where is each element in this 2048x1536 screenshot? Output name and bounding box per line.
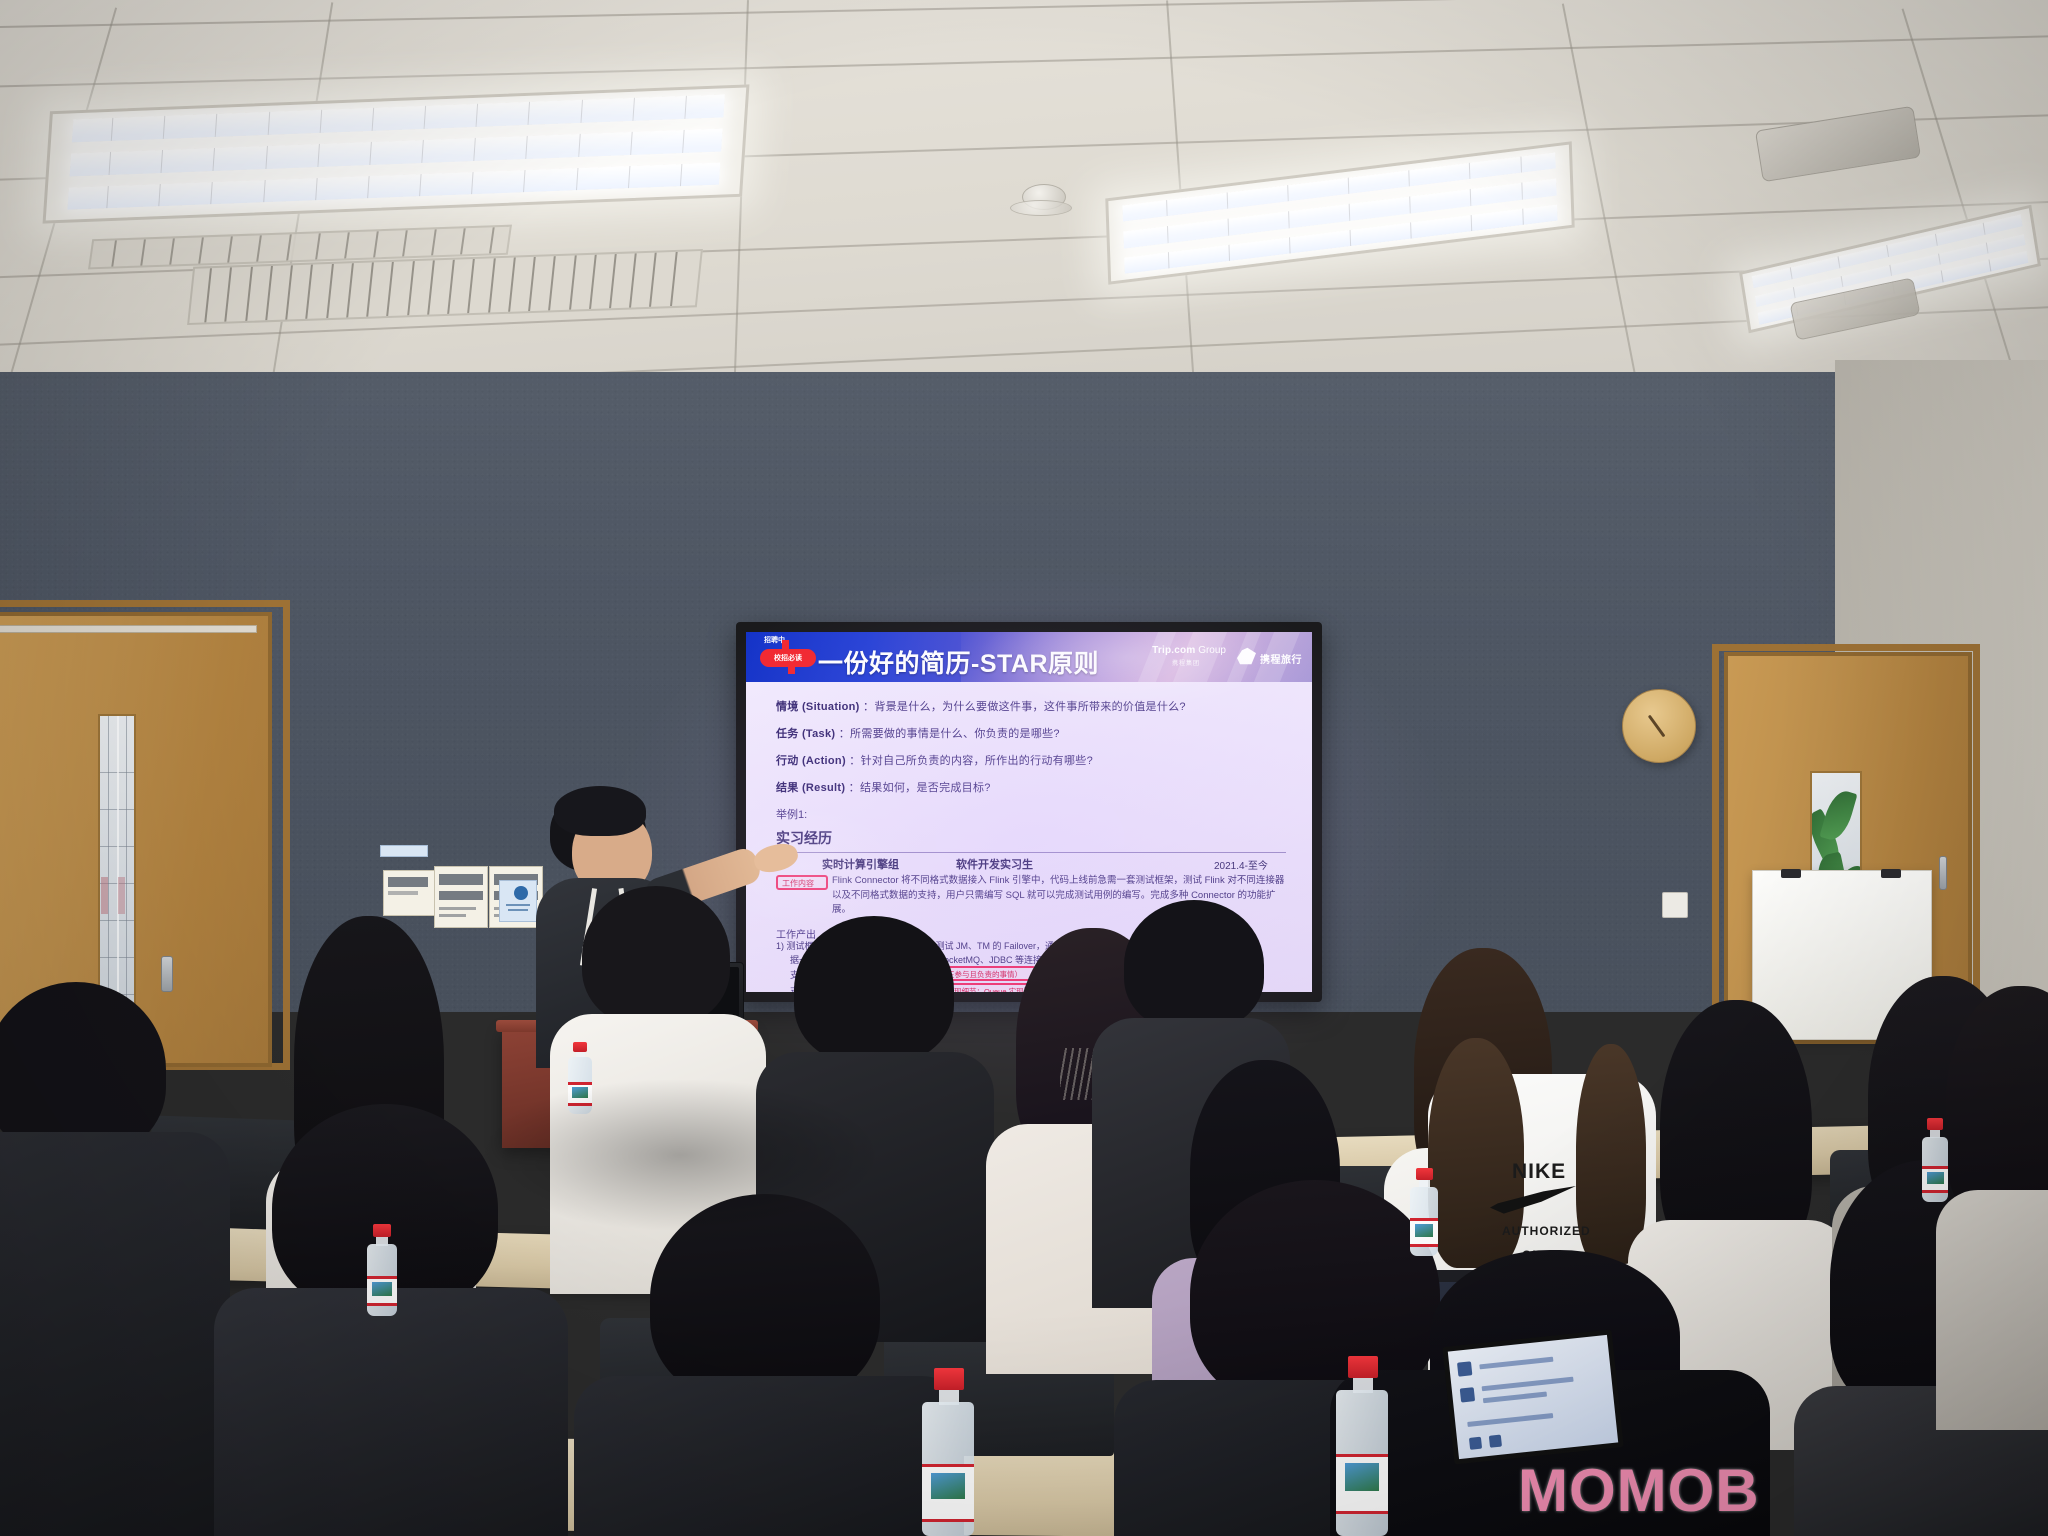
brand-trip-com: Trip.com Group [1152,645,1226,656]
star-line-action: 行动 (Action) ：针对自己所负责的内容，所作出的行动有哪些? [776,752,1093,768]
star-text-result: ：结果如何，是否完成目标? [849,782,991,794]
water-bottle[interactable] [567,1042,593,1114]
slide-header: 招聘中 校招必读 一份好的简历-STAR原则 Trip.com Group 携程… [746,632,1312,682]
wall-clock [1622,689,1696,763]
example-label: 举例1: [776,806,807,822]
star-en-situation: (Situation) [802,701,860,713]
resume-role: 软件开发实习生 [956,856,1033,872]
momob-shirt-label: MOMOB [1518,1456,1760,1525]
presenter-hair-top [554,786,646,836]
water-bottle[interactable] [1920,1118,1950,1202]
badge-label: 校招必读 [774,653,802,663]
star-line-task: 任务 (Task) ：所需要做的事情是什么、你负责的是哪些? [776,725,1060,741]
star-line-situation: 情境 (Situation) ：背景是什么，为什么要做这件事，这件事所带来的价值… [776,698,1186,714]
smoke-detector-icon [1010,200,1072,216]
resume-company: 实时计算引擎组 [822,856,899,872]
left-door-top-bar [0,625,257,633]
audience-member-foreground [594,1194,944,1536]
classroom-scene: 招聘中 校招必读 一份好的简历-STAR原则 Trip.com Group 携程… [0,0,2048,1536]
audience-member-foreground [228,1104,558,1536]
star-text-situation: ：背景是什么，为什么要做这件事，这件事所带来的价值是什么? [863,701,1186,713]
water-bottle[interactable] [1334,1356,1390,1536]
star-cn-action: 行动 [776,755,799,767]
audience-member-foreground [0,982,230,1536]
resume-date: 2021.4-至今 [1214,857,1268,872]
water-bottle[interactable] [365,1224,399,1316]
slide-badge: 校招必读 [760,649,816,667]
star-cn-situation: 情境 [776,701,799,713]
annotation-work-content: 工作内容 [776,875,828,890]
nike-line1-label: AUTHORIZED [1502,1224,1591,1238]
ceiling-speaker-icon [1755,106,1921,182]
brand-sub-label: 携程集团 [1172,658,1200,667]
star-text-task: ：所需要做的事情是什么、你负责的是哪些? [839,728,1060,740]
brand-main-label: Trip.com [1152,645,1195,656]
star-en-action: (Action) [802,755,846,767]
ceiling-light-panel [43,84,750,223]
nike-brand-label: NIKE [1512,1160,1566,1184]
water-bottle[interactable] [920,1368,976,1536]
brand-group-label: Group [1198,645,1226,656]
wall-notice [383,870,435,916]
slide-title: 一份好的简历-STAR原则 [818,644,1099,680]
wall-notice-certificate [380,845,428,857]
star-en-task: (Task) [802,728,835,740]
star-en-result: (Result) [802,782,845,794]
star-text-action: ：针对自己所负责的内容，所作出的行动有哪些? [849,755,1093,767]
right-door-handle[interactable] [1939,856,1947,890]
star-cn-task: 任务 [776,728,799,740]
star-line-result: 结果 (Result) ：结果如何，是否完成目标? [776,779,991,795]
water-bottle[interactable] [1408,1168,1440,1256]
left-door-glass [98,714,136,1027]
ceiling [0,0,2048,395]
light-switch[interactable] [1662,892,1688,918]
brand-cn-label: 携程旅行 [1260,651,1302,666]
audience-laptop[interactable] [1442,1329,1623,1464]
audience-member-side [1946,986,2048,1386]
annotation-work-content-label: 工作内容 [782,878,814,889]
ceiling-light-panel [1105,141,1575,285]
